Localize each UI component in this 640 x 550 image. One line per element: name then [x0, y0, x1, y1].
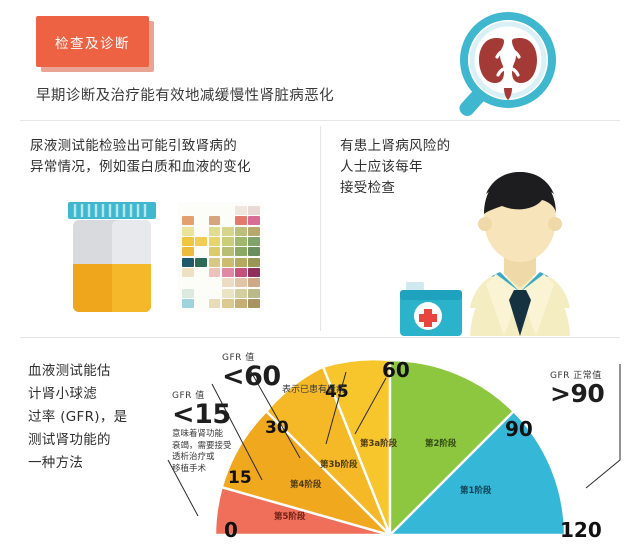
annotation-left-value: <15 — [172, 401, 258, 429]
gauge-label-stage3b: 第3b阶段 — [320, 458, 358, 470]
badge-box: 检查及诊断 — [36, 16, 149, 67]
gauge-tick-0: 0 — [224, 518, 238, 542]
divider-top — [20, 120, 620, 121]
urine-sample-cup-icon — [62, 198, 162, 316]
annotation-gfr-normal: GFR 正常值 >90 — [550, 368, 640, 407]
gauge-tick-120: 120 — [560, 518, 602, 542]
urine-test-line1: 尿液测试能检验出可能引致肾病的 — [30, 136, 251, 157]
annotation-left-body-1: 衰竭，需要接受 — [172, 441, 258, 453]
infographic-page: 检查及诊断 早期诊断及治疗能有效地减缓慢性肾脏病恶化 尿液测试能检验出可能引致肾… — [0, 0, 640, 550]
gauge-label-stage5: 第5阶段 — [274, 510, 305, 522]
annotation-gfr-under15: GFR 值 <15 意味着肾功能 衰竭，需要接受 透析治疗或 移植手术 — [172, 388, 258, 475]
gauge-tick-60: 60 — [382, 358, 410, 382]
kidney-magnifier-icon — [446, 6, 574, 130]
urinalysis-color-chart-icon — [178, 202, 264, 312]
gauge-label-stage3a: 第3a阶段 — [360, 437, 397, 449]
urine-test-text: 尿液测试能检验出可能引致肾病的 异常情况，例如蛋白质和血液的变化 — [30, 136, 251, 178]
annotation-center-tail: 表示已患有肾病 — [282, 382, 345, 395]
gauge-label-stage2: 第2阶段 — [425, 437, 456, 449]
page-subtitle: 早期诊断及治疗能有效地减缓慢性肾脏病恶化 — [36, 84, 334, 105]
gfr-description: 血液测试能估 计肾小球滤 过率 (GFR)，是 测试肾功能的 一种方法 — [28, 360, 127, 475]
annotation-left-body-2: 透析治疗或 — [172, 452, 258, 464]
gfr-desc-line-2: 过率 (GFR)，是 — [28, 406, 127, 429]
urine-test-line2: 异常情况，例如蛋白质和血液的变化 — [30, 157, 251, 178]
annotation-left-body-3: 移植手术 — [172, 464, 258, 476]
gfr-desc-line-0: 血液测试能估 — [28, 360, 127, 383]
divider-middle — [320, 126, 321, 331]
annotation-gfr-under60: GFR 值 <60 表示已患有肾病 — [222, 350, 372, 391]
doctor-illustration-icon — [400, 150, 640, 336]
gauge-label-stage4: 第4阶段 — [290, 478, 321, 490]
gfr-desc-line-4: 一种方法 — [28, 452, 127, 475]
gauge-tick-90: 90 — [505, 417, 533, 441]
section-badge: 检查及诊断 — [36, 16, 154, 72]
annotation-right-value: >90 — [550, 381, 640, 407]
gfr-desc-line-3: 测试肾功能的 — [28, 429, 127, 452]
badge-label: 检查及诊断 — [55, 32, 130, 52]
annotation-left-body-0: 意味着肾功能 — [172, 429, 258, 441]
divider-bottom — [20, 337, 620, 338]
medical-bag-icon — [400, 282, 462, 336]
gauge-tick-30: 30 — [265, 418, 289, 438]
annotation-center-value: <60 — [222, 363, 281, 391]
gauge-label-stage1: 第1阶段 — [460, 484, 491, 496]
gfr-desc-line-1: 计肾小球滤 — [28, 383, 127, 406]
